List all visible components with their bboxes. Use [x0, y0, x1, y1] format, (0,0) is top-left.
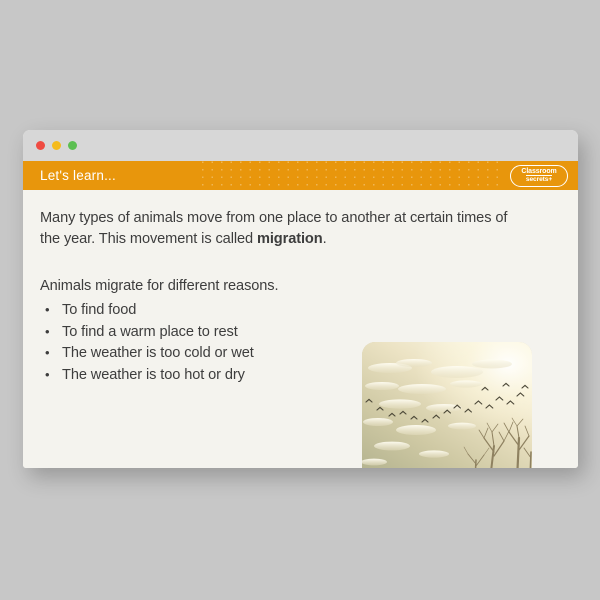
- minimize-window-button[interactable]: [52, 141, 61, 150]
- classroom-secrets-logo: Classroom secrets+: [510, 165, 568, 187]
- logo-line-secrets: secrets+: [526, 175, 552, 183]
- close-window-button[interactable]: [36, 141, 45, 150]
- slide-banner: Let's learn... Classroom secrets+: [23, 161, 578, 190]
- logo-line-classroom: Classroom: [521, 168, 556, 175]
- maximize-window-button[interactable]: [68, 141, 77, 150]
- intro-paragraph-part2: .: [323, 231, 327, 247]
- migration-bold-term: migration: [257, 231, 323, 247]
- reasons-heading: Animals migrate for different reasons.: [40, 276, 578, 297]
- slide-body: Many types of animals move from one plac…: [23, 190, 578, 468]
- banner-dot-pattern: [198, 161, 498, 190]
- list-item: To find food: [40, 300, 578, 322]
- migrating-birds-photo: [362, 342, 532, 468]
- window-titlebar: [23, 130, 578, 161]
- slide-window: Let's learn... Classroom secrets+ Many t…: [23, 130, 578, 468]
- banner-title: Let's learn...: [40, 168, 116, 183]
- intro-paragraph: Many types of animals move from one plac…: [40, 208, 525, 250]
- list-item: To find a warm place to rest: [40, 322, 578, 344]
- birds-sky-illustration: [362, 342, 532, 468]
